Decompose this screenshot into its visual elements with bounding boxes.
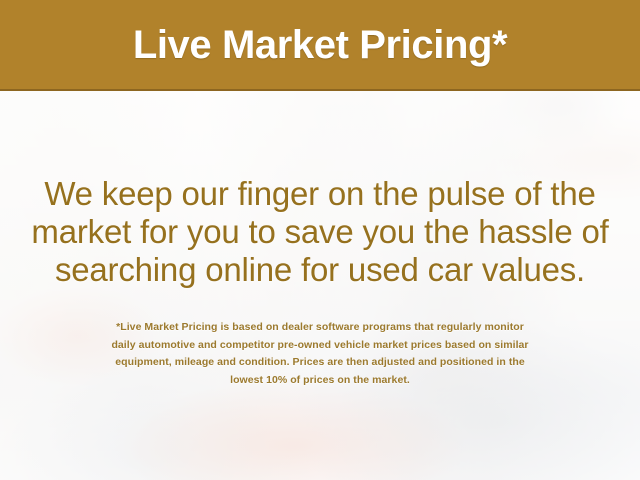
headline-line-1: We keep our finger on the pulse of the	[26, 175, 614, 213]
disclaimer-line-4: lowest 10% of prices on the market.	[24, 372, 616, 390]
disclaimer-line-1: *Live Market Pricing is based on dealer …	[24, 319, 616, 337]
disclaimer-text: *Live Market Pricing is based on dealer …	[24, 319, 616, 389]
live-market-pricing-slide: Live Market Pricing* We keep our finger …	[0, 0, 640, 480]
header-band: Live Market Pricing*	[0, 0, 640, 91]
headline-line-2: market for you to save you the hassle of	[26, 213, 614, 251]
page-title: Live Market Pricing*	[133, 25, 507, 65]
headline: We keep our finger on the pulse of the m…	[26, 175, 614, 289]
content-area: We keep our finger on the pulse of the m…	[0, 89, 640, 480]
disclaimer-line-2: daily automotive and competitor pre-owne…	[24, 337, 616, 355]
headline-line-3: searching online for used car values.	[26, 251, 614, 289]
disclaimer-line-3: equipment, mileage and condition. Prices…	[24, 354, 616, 372]
